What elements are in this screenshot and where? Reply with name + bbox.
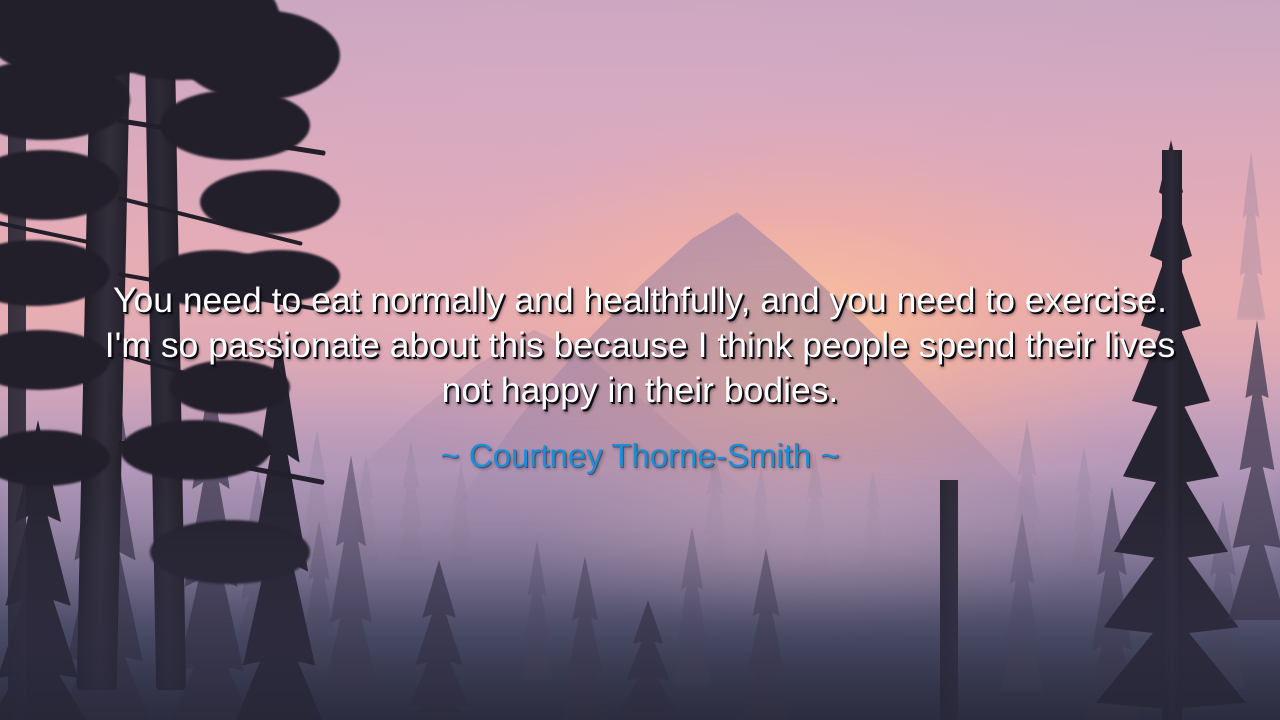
text-overlay: You need to eat normally and healthfully… bbox=[0, 0, 1280, 720]
quote-attribution: ~ Courtney Thorne-Smith ~ bbox=[440, 436, 839, 476]
quote-text: You need to eat normally and healthfully… bbox=[95, 278, 1185, 413]
quote-wallpaper: You need to eat normally and healthfully… bbox=[0, 0, 1280, 720]
